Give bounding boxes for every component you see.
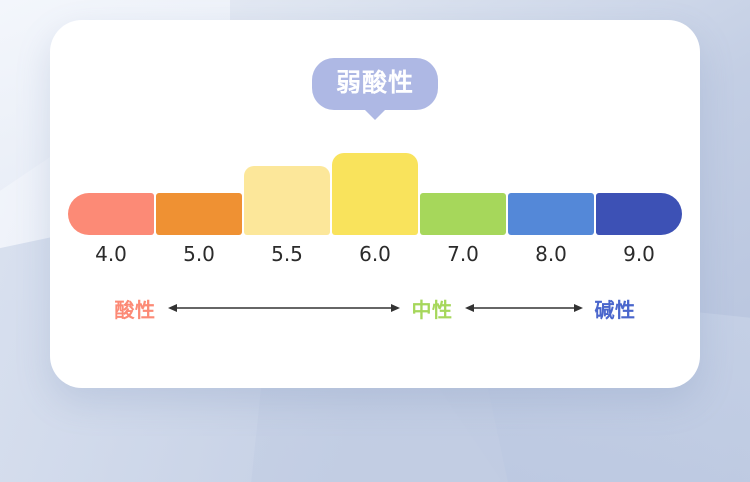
ph-bar-segment[interactable] (156, 193, 242, 235)
legend-label-neutral: 中性 (412, 294, 453, 323)
ph-tick-label: 5.0 (156, 242, 242, 266)
ph-tick-label: 6.0 (332, 242, 418, 266)
double-arrow-icon (465, 301, 583, 315)
ph-bar-group (68, 130, 682, 235)
legend-label-acidic: 酸性 (115, 294, 156, 323)
ph-tick-labels: 4.0 5.0 5.5 6.0 7.0 8.0 9.0 (68, 242, 682, 266)
ph-bar-segment[interactable] (420, 193, 506, 235)
ph-status-badge: 弱酸性 (50, 58, 700, 120)
ph-legend: 酸性 中性 碱性 (105, 288, 645, 328)
ph-tick-label: 8.0 (508, 242, 594, 266)
legend-label-alkaline: 碱性 (595, 294, 636, 323)
ph-tick-label: 7.0 (420, 242, 506, 266)
ph-bar-segment[interactable] (244, 166, 330, 235)
ph-tick-label: 9.0 (596, 242, 682, 266)
ph-bar-segment[interactable] (332, 153, 418, 235)
badge-pointer-icon (364, 109, 386, 120)
ph-bar-segment[interactable] (68, 193, 154, 235)
status-badge-label: 弱酸性 (312, 58, 438, 110)
ph-tick-label: 4.0 (68, 242, 154, 266)
ph-scale (68, 130, 682, 235)
ph-tick-label: 5.5 (244, 242, 330, 266)
ph-bar-segment[interactable] (596, 193, 682, 235)
ph-bar-segment[interactable] (508, 193, 594, 235)
ph-scale-card: 弱酸性 4.0 5.0 5.5 6.0 7.0 8.0 9.0 酸性 (50, 20, 700, 388)
double-arrow-icon (168, 301, 400, 315)
